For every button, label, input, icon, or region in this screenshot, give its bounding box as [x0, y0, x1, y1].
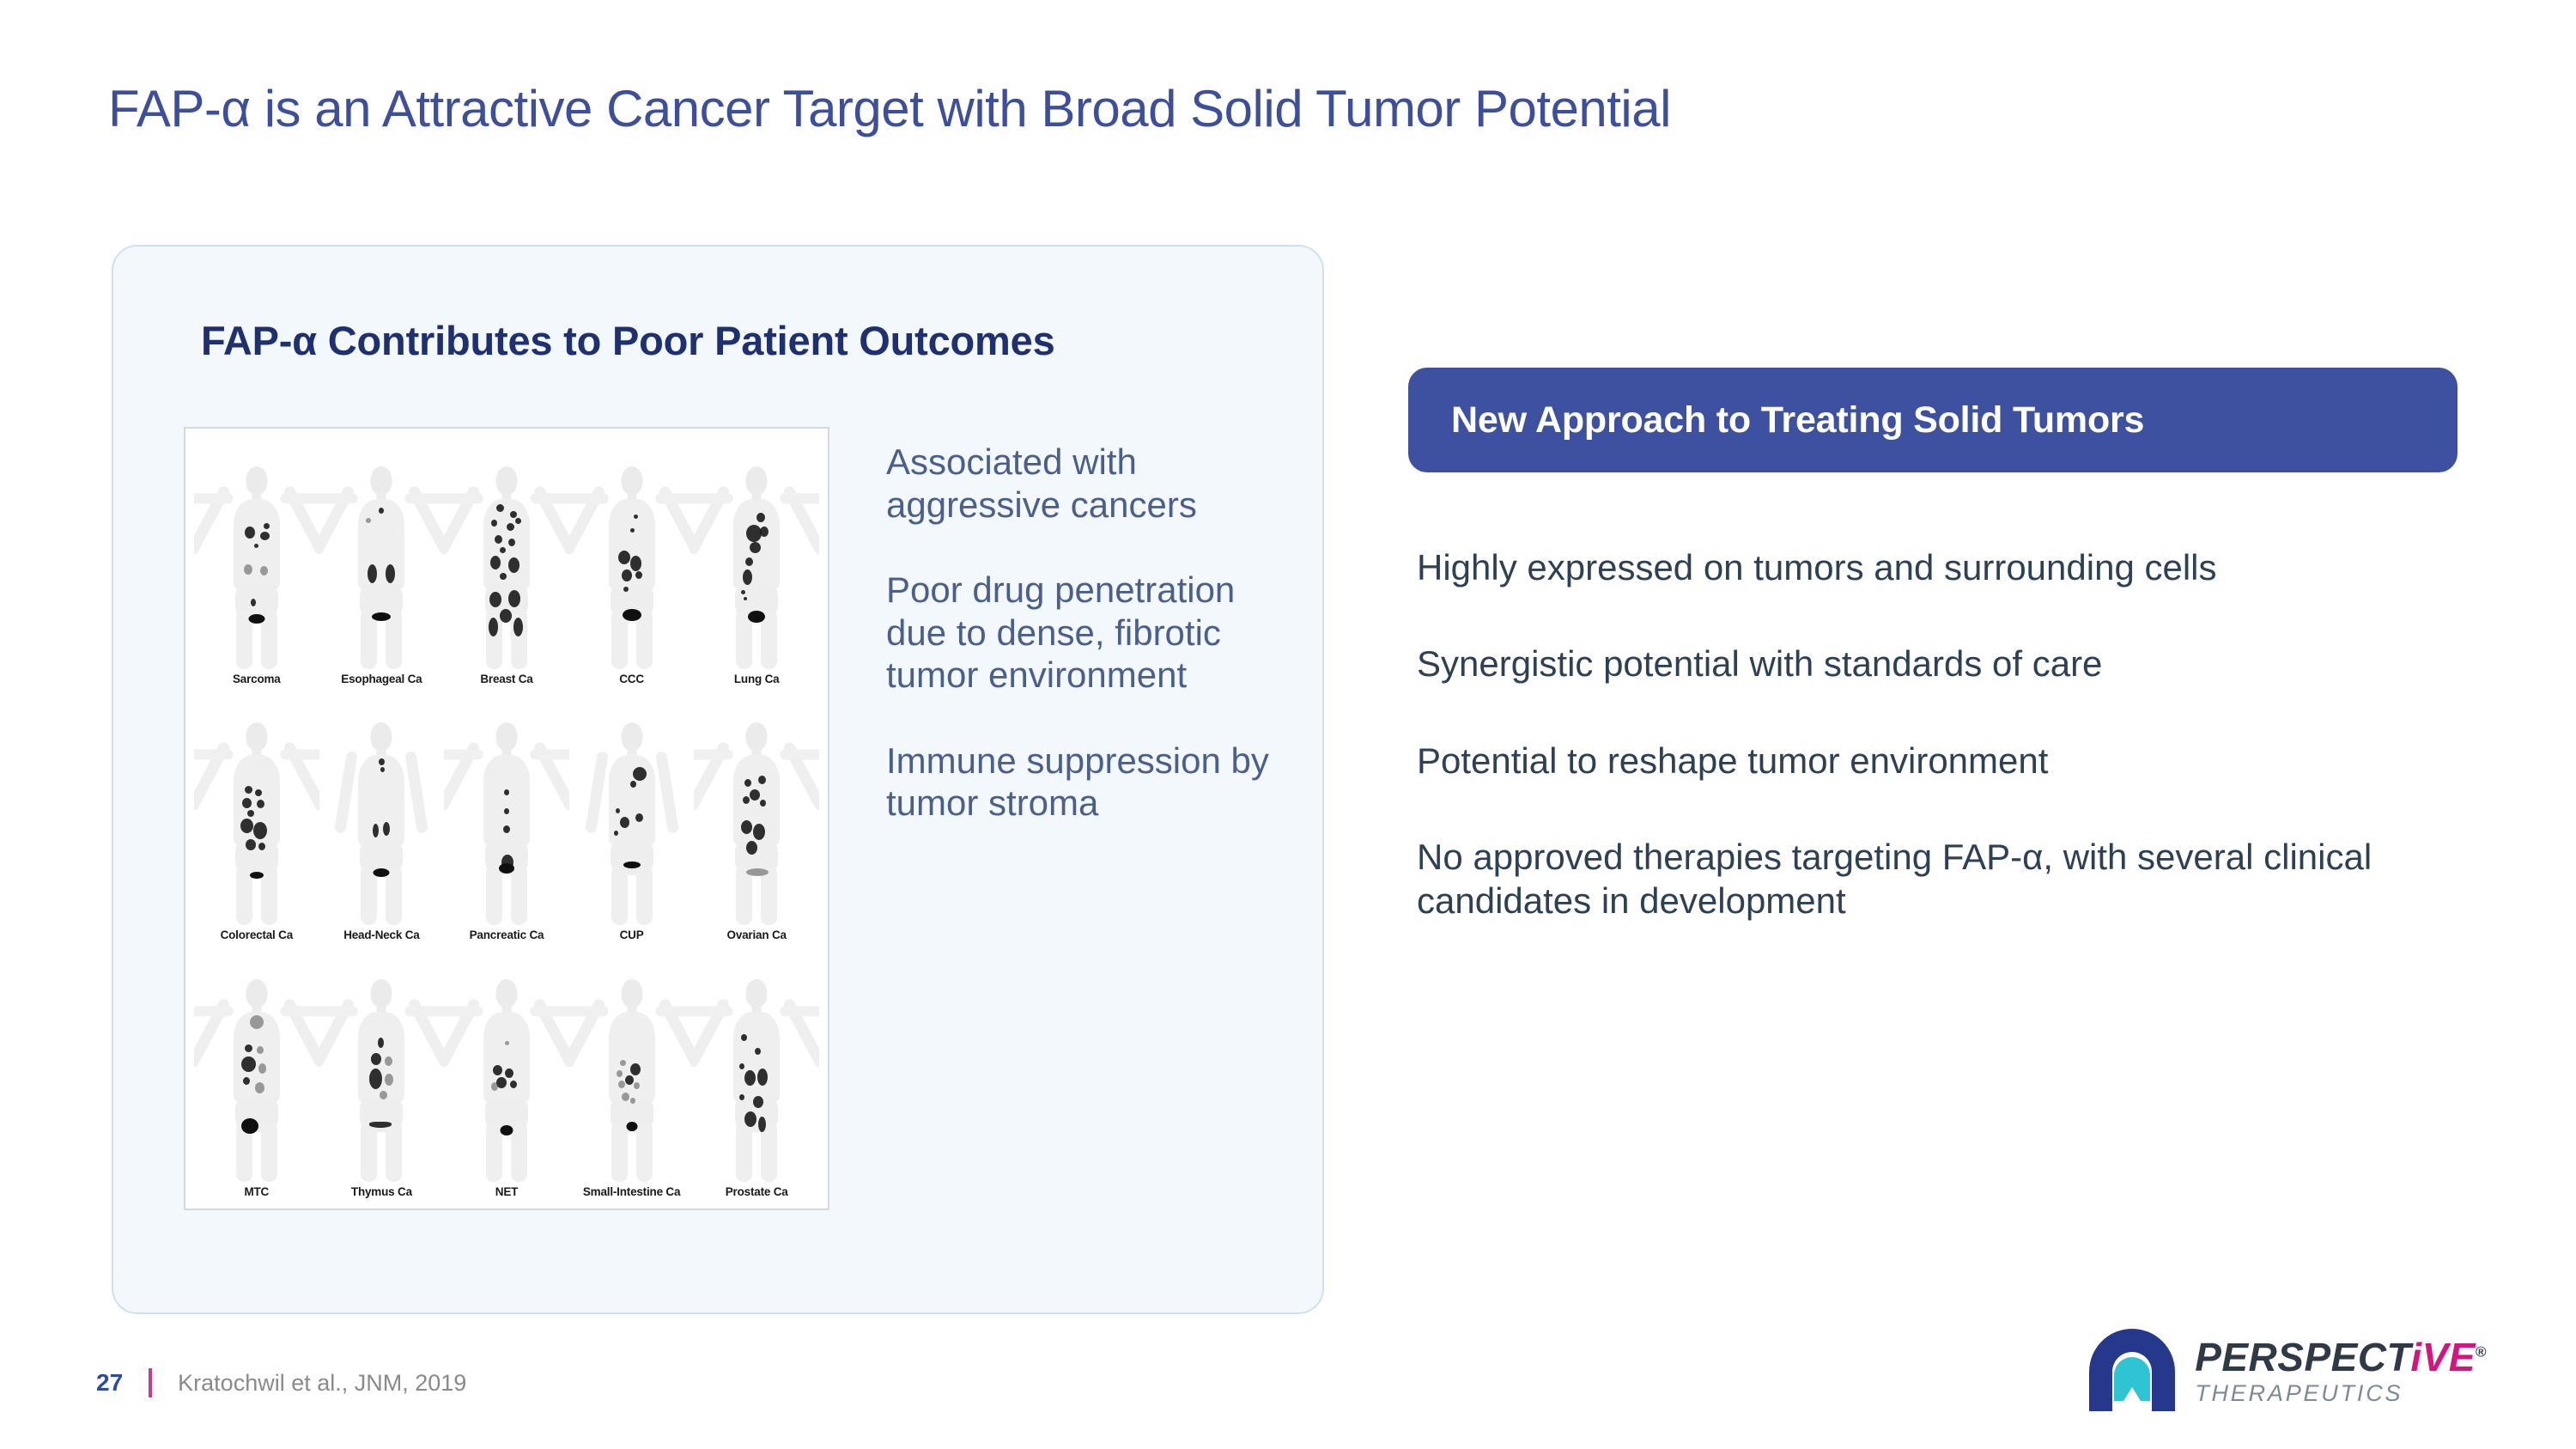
pet-scan-label: NET [495, 1185, 518, 1198]
pet-scan-cell: Small-Intestine Ca [569, 948, 695, 1205]
pet-scan-image [319, 974, 445, 1183]
pet-scan-figure: Sarcoma Esophageal Ca [184, 427, 829, 1210]
new-approach-banner-label: New Approach to Treating Solid Tumors [1451, 399, 2144, 441]
perspective-arch-mark-icon [2087, 1329, 2178, 1415]
pet-scan-label: Thymus Ca [351, 1185, 412, 1198]
pet-scan-row: Sarcoma Esophageal Ca [194, 435, 819, 692]
pet-scan-label: Small-Intestine Ca [583, 1185, 680, 1198]
card-bullet-item: Poor drug penetration due to dense, fibr… [886, 569, 1290, 697]
footer-divider [149, 1368, 152, 1397]
logo-wordmark: PERSPECTiVE® THERAPEUTICS [2195, 1337, 2487, 1407]
pet-scan-cell: Colorectal Ca [194, 692, 319, 949]
pet-scan-image [194, 461, 319, 670]
pet-scan-row: Colorectal Ca Head-Neck Ca [194, 692, 819, 949]
pet-scan-label: Lung Ca [734, 673, 780, 685]
pet-scan-image [569, 717, 695, 926]
logo-word-accent: iVE [2410, 1335, 2476, 1379]
pet-scan-image [444, 717, 569, 926]
pet-scan-cell: Pancreatic Ca [444, 692, 569, 949]
pet-scan-image [569, 461, 695, 670]
right-bullet-item: Highly expressed on tumors and surroundi… [1417, 546, 2473, 589]
pet-scan-image [444, 974, 569, 1183]
card-bullet-item: Immune suppression by tumor stroma [886, 740, 1290, 825]
pet-scan-image [694, 717, 819, 926]
pet-scan-label: CUP [620, 928, 644, 941]
right-bullet-item: Potential to reshape tumor environment [1417, 740, 2473, 782]
pet-scan-label: Colorectal Ca [221, 928, 293, 941]
page-number: 27 [96, 1369, 123, 1397]
right-bullet-list: Highly expressed on tumors and surroundi… [1417, 546, 2473, 976]
new-approach-banner: New Approach to Treating Solid Tumors [1408, 368, 2458, 472]
pet-scan-cell: Esophageal Ca [319, 435, 445, 692]
page-title: FAP-α is an Attractive Cancer Target wit… [108, 79, 1671, 138]
pet-scan-cell: Lung Ca [694, 435, 819, 692]
pet-scan-row: MTC [194, 948, 819, 1205]
fap-outcomes-card: FAP-α Contributes to Poor Patient Outcom… [112, 245, 1324, 1314]
logo-subtitle: THERAPEUTICS [2195, 1380, 2403, 1407]
pet-scan-label: Pancreatic Ca [470, 928, 544, 941]
right-bullet-item: Synergistic potential with standards of … [1417, 642, 2473, 685]
card-bullet-list: Associated with aggressive cancers Poor … [886, 441, 1290, 868]
pet-scan-image [319, 717, 445, 926]
pet-scan-cell: Breast Ca [444, 435, 569, 692]
right-bullet-item: No approved therapies targeting FAP-α, w… [1417, 836, 2473, 922]
logo-word-prefix: PERSPECT [2195, 1335, 2410, 1379]
pet-scan-cell: CCC [569, 435, 695, 692]
pet-scan-image [569, 974, 695, 1183]
pet-scan-cell: Sarcoma [194, 435, 319, 692]
pet-scan-image [444, 461, 569, 670]
pet-scan-label: MTC [244, 1185, 269, 1198]
pet-scan-label: CCC [619, 673, 644, 685]
footer-citation: Kratochwil et al., JNM, 2019 [178, 1370, 466, 1397]
card-bullet-item: Associated with aggressive cancers [886, 441, 1290, 526]
pet-scan-cell: MTC [194, 948, 319, 1205]
pet-scan-cell: Ovarian Ca [694, 692, 819, 949]
pet-scan-image [194, 974, 319, 1183]
pet-scan-label: Breast Ca [480, 673, 532, 685]
card-heading: FAP-α Contributes to Poor Patient Outcom… [201, 317, 1055, 364]
company-logo: PERSPECTiVE® THERAPEUTICS [2087, 1329, 2487, 1415]
pet-scan-label: Prostate Ca [726, 1185, 788, 1198]
pet-scan-image [694, 461, 819, 670]
pet-scan-label: Sarcoma [233, 673, 281, 685]
pet-scan-label: Esophageal Ca [341, 673, 422, 685]
pet-scan-label: Ovarian Ca [727, 928, 787, 941]
pet-scan-image [319, 461, 445, 670]
logo-word: PERSPECTiVE® [2195, 1337, 2487, 1377]
pet-scan-image [694, 974, 819, 1183]
registered-mark: ® [2476, 1343, 2487, 1360]
pet-scan-cell: Thymus Ca [319, 948, 445, 1205]
pet-scan-cell: Prostate Ca [694, 948, 819, 1205]
slide-footer: 27 Kratochwil et al., JNM, 2019 [96, 1368, 466, 1397]
pet-scan-cell: Head-Neck Ca [319, 692, 445, 949]
pet-scan-cell: CUP [569, 692, 695, 949]
pet-scan-cell: NET [444, 948, 569, 1205]
pet-scan-image [194, 717, 319, 926]
pet-scan-label: Head-Neck Ca [343, 928, 419, 941]
